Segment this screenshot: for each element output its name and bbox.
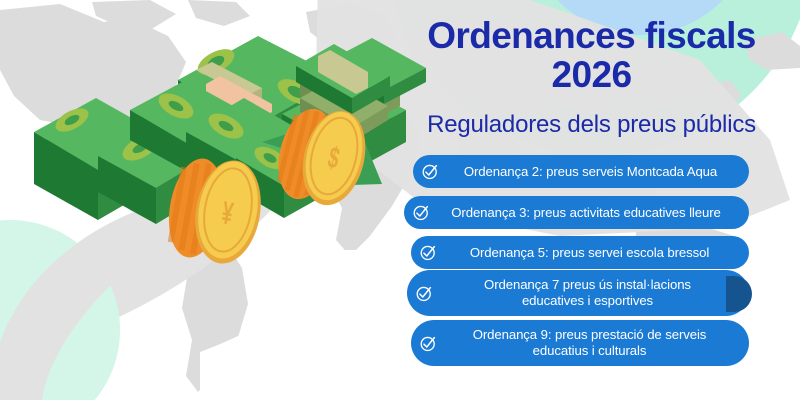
page-subtitle: Reguladores dels preus públics [383,112,800,138]
list-item-label: Ordenança 5: preus servei escola bressol [440,245,739,261]
list-item-ordenanca-5[interactable]: Ordenança 5: preus servei escola bressol [411,236,749,269]
list-item-ordenanca-9[interactable]: Ordenança 9: preus prestació de serveise… [411,320,749,366]
circle-check-icon [419,243,438,262]
poster-canvas: $ ¥ Ordenances fiscals 2026 Reguladores … [0,0,800,400]
list-item-label: Ordenança 3: preus activitats educatives… [433,205,739,221]
list-item-ordenanca-7[interactable]: Ordenança 7 preus ús instal·lacionseduca… [407,270,749,316]
circle-check-icon [419,334,438,353]
circle-check-icon [412,203,431,222]
circle-check-icon [415,284,434,303]
list-item-label: Ordenança 2: preus serveis Montcada Aqua [442,164,739,180]
page-title: Ordenances fiscals 2026 [383,16,800,94]
list-item-ordenanca-3[interactable]: Ordenança 3: preus activitats educatives… [404,196,749,229]
list-item-label: Ordenança 7 preus ús instal·lacionseduca… [436,277,739,308]
list-item-ordenanca-2[interactable]: Ordenança 2: preus serveis Montcada Aqua [413,155,749,188]
content-column: Ordenances fiscals 2026 Reguladores dels… [383,0,800,400]
list-item-label: Ordenança 9: preus prestació de serveise… [440,327,739,358]
circle-check-icon [421,162,440,181]
